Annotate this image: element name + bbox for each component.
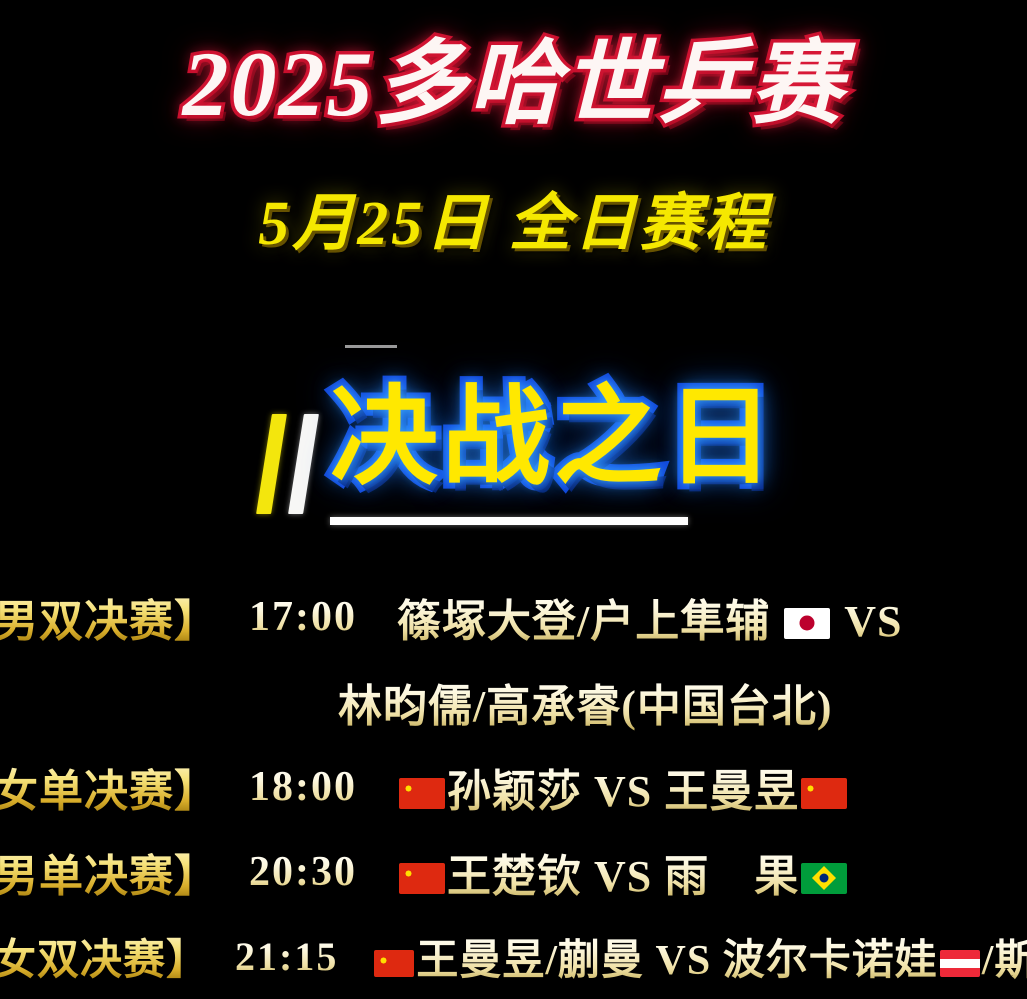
tick-divider (345, 345, 397, 348)
table-row-continuation: 林昀儒/高承睿(中国台北) (0, 659, 1027, 744)
player-side-b: 雨 果 (664, 852, 799, 901)
poster-root: 2025多哈世乒赛 5月25日 全日赛程 决战之日 男双决赛】 17:00 篠塚… (0, 0, 1027, 988)
event-time: 18:00 (249, 763, 357, 811)
player-side-b: 波尔卡诺娃 (723, 938, 938, 984)
event-label: 女双决赛】 (0, 926, 209, 987)
br-flag-icon (801, 863, 847, 894)
player-side-b: 王曼昱 (664, 767, 799, 816)
player-side-a: 篠塚大登/户上隼辅 (397, 597, 770, 646)
at-flag-icon (940, 950, 980, 977)
vs-label: VS (594, 852, 652, 901)
event-time: 21:15 (235, 933, 338, 980)
table-row: 女单决赛】 18:00 孙颖莎 VS 王曼昱 (0, 744, 1027, 829)
cn-flag-icon (801, 778, 847, 809)
cn-flag-icon (374, 950, 414, 977)
event-time: 20:30 (249, 848, 357, 896)
event-matchup: 孙颖莎 VS 王曼昱 (397, 755, 849, 819)
slash-bar-yellow-icon (256, 414, 287, 514)
player-side-a: 王曼昱/蒯曼 (416, 938, 644, 984)
badge-underline (330, 517, 688, 525)
player-side-a: 孙颖莎 (447, 767, 582, 816)
event-time: 17:00 (249, 593, 357, 641)
vs-label: VS (594, 767, 652, 816)
player-side-b: 林昀儒/高承睿(中国台北) (338, 670, 833, 734)
event-label: 男单决赛】 (0, 840, 219, 904)
player-side-b2: /斯佐科斯 (982, 938, 1027, 984)
cn-flag-icon (399, 863, 445, 894)
vs-label: VS (656, 938, 712, 984)
schedule-list: 男双决赛】 17:00 篠塚大登/户上隼辅 VS 林昀儒/高承睿(中国台北) 女… (0, 574, 1027, 999)
cn-flag-icon (399, 778, 445, 809)
vs-label: VS (844, 597, 902, 646)
subtitle-date: 5月25日 全日赛程 (0, 172, 1027, 262)
event-matchup: 王楚钦 VS 雨 果 (397, 840, 849, 904)
table-row: 女双决赛】 21:15 王曼昱/蒯曼 VS 波尔卡诺娃/斯佐科斯 (0, 914, 1027, 999)
jp-flag-icon (784, 608, 830, 639)
highlight-badge: 决战之日 (0, 372, 1027, 532)
event-matchup: 篠塚大登/户上隼辅 VS (397, 585, 902, 649)
event-matchup: 王曼昱/蒯曼 VS 波尔卡诺娃/斯佐科斯 (372, 926, 1027, 987)
player-side-a: 王楚钦 (447, 852, 582, 901)
table-row: 男单决赛】 20:30 王楚钦 VS 雨 果 (0, 829, 1027, 914)
slash-bar-white-icon (288, 414, 319, 514)
page-title: 2025多哈世乒赛 (0, 36, 1027, 133)
event-label: 女单决赛】 (0, 755, 219, 819)
event-label: 男双决赛】 (0, 585, 219, 649)
table-row: 男双决赛】 17:00 篠塚大登/户上隼辅 VS (0, 574, 1027, 659)
badge-label: 决战之日 (330, 372, 778, 502)
